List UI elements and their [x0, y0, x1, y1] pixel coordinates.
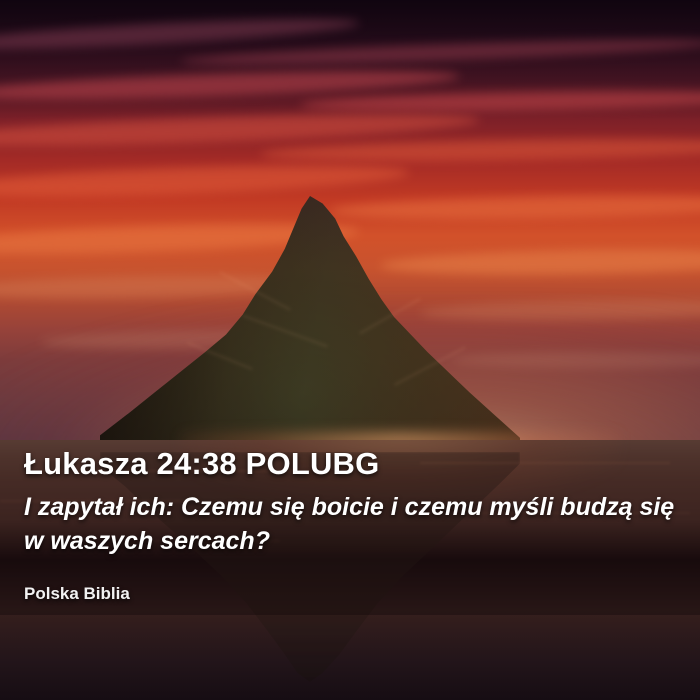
verse-image: Łukasza 24:38 POLUBG I zapytał ich: Czem… [0, 0, 700, 700]
verse-text: I zapytał ich: Czemu się boicie i czemu … [24, 490, 684, 558]
bible-attribution: Polska Biblia [24, 584, 130, 604]
verse-reference: Łukasza 24:38 POLUBG [24, 446, 379, 482]
